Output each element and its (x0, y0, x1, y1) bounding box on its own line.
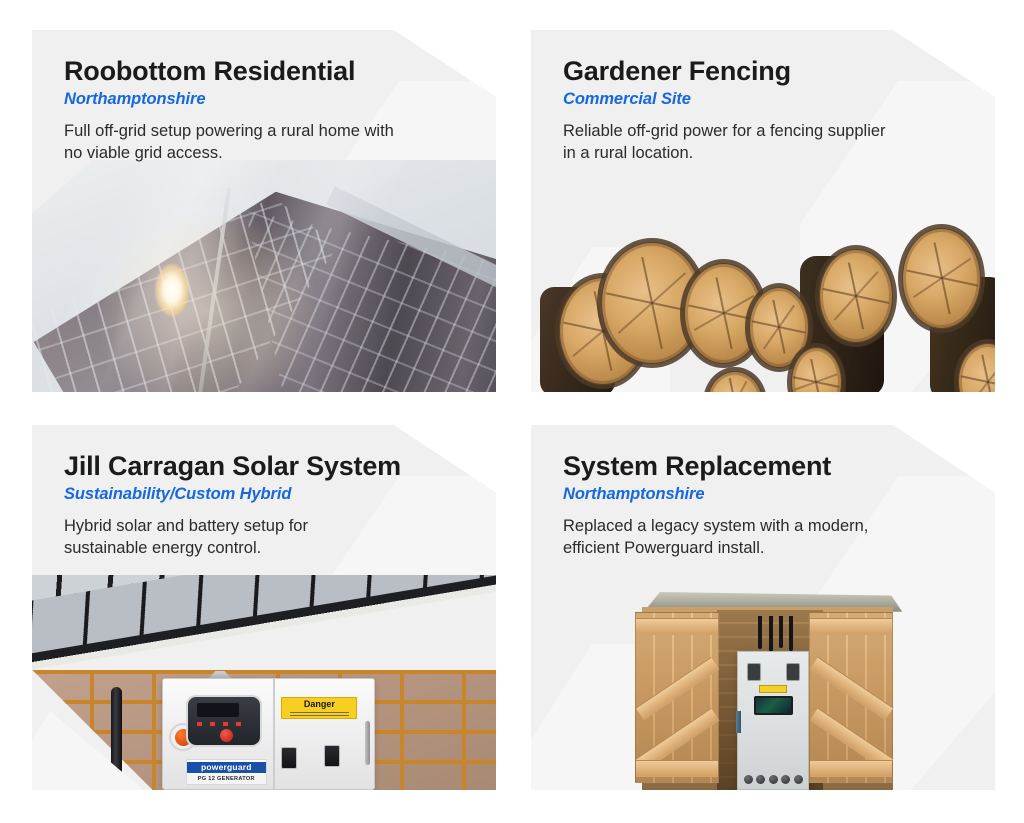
card-text-block: System Replacement Northamptonshire Repl… (531, 425, 995, 560)
card-description: Replaced a legacy system with a modern, … (563, 516, 893, 560)
case-study-card-jill-carragan-solar-system[interactable]: Jill Carragan Solar System Sustainabilit… (32, 425, 496, 790)
card-title: Gardener Fencing (563, 56, 965, 86)
card-title: System Replacement (563, 451, 965, 481)
card-text-block: Roobottom Residential Northamptonshire F… (32, 30, 496, 165)
photo-generator-enclosure: powerguard PG 12 GENERATOR Danger (162, 678, 375, 790)
card-text-block: Gardener Fencing Commercial Site Reliabl… (531, 30, 995, 165)
photo-sun-flare (155, 264, 189, 316)
photo-log-stack (531, 217, 995, 392)
card-description: Reliable off-grid power for a fencing su… (563, 121, 893, 165)
photo-status-leds (197, 722, 245, 726)
photo-powerguard-badge: powerguard PG 12 GENERATOR (186, 759, 266, 784)
photo-cabinet-controls (744, 775, 803, 784)
photo-enclosure-door-seam (273, 679, 275, 789)
card-subtitle: Northamptonshire (64, 90, 466, 109)
photo-downpipe (111, 687, 122, 773)
photo-shed-door-left (635, 612, 719, 784)
photo-enclosure-handle (365, 721, 370, 765)
photo-danger-label: Danger (304, 700, 335, 709)
solar-panel-roof-photo (32, 160, 496, 392)
shed-control-cabinet-photo (531, 570, 995, 790)
photo-model-label: PG 12 GENERATOR (198, 776, 255, 782)
photo-log (958, 343, 995, 392)
photo-cabinet-warning-label (759, 685, 787, 693)
card-subtitle: Sustainability/Custom Hybrid (64, 485, 466, 504)
photo-control-display (197, 703, 239, 717)
photo-control-cabinet (737, 651, 809, 790)
card-text-block: Jill Carragan Solar System Sustainabilit… (32, 425, 496, 560)
photo-vent-grille (324, 745, 340, 767)
card-description: Full off-grid setup powering a rural hom… (64, 121, 394, 165)
card-title: Roobottom Residential (64, 56, 466, 86)
card-description: Hybrid solar and battery setup for susta… (64, 516, 394, 560)
photo-shed (531, 570, 995, 790)
case-study-card-gardener-fencing[interactable]: Gardener Fencing Commercial Site Reliabl… (531, 30, 995, 392)
photo-log (791, 347, 842, 393)
case-study-card-grid: Roobottom Residential Northamptonshire F… (0, 0, 1024, 823)
photo-cabinet-vent (786, 663, 800, 681)
photo-cable-bundle (749, 616, 814, 653)
card-subtitle: Northamptonshire (563, 485, 965, 504)
photo-cabinet-vent (747, 663, 761, 681)
case-study-card-system-replacement[interactable]: System Replacement Northamptonshire Repl… (531, 425, 995, 790)
photo-log (902, 228, 981, 330)
generator-and-solar-roof-photo: powerguard PG 12 GENERATOR Danger (32, 575, 496, 790)
card-subtitle: Commercial Site (563, 90, 965, 109)
card-title: Jill Carragan Solar System (64, 451, 466, 481)
case-study-card-roobottom-residential[interactable]: Roobottom Residential Northamptonshire F… (32, 30, 496, 392)
photo-danger-fineprint (290, 711, 349, 716)
photo-cabinet-hinge (736, 711, 741, 733)
photo-brand-label: powerguard (187, 762, 265, 774)
photo-danger-sign: Danger (281, 697, 357, 719)
photo-vent-grille (281, 747, 297, 769)
photo-log (819, 249, 893, 344)
photo-control-panel (186, 695, 262, 748)
timber-logs-photo (531, 217, 995, 392)
photo-log (707, 371, 763, 392)
photo-cabinet-display (754, 696, 793, 715)
photo-stop-button (220, 729, 233, 742)
photo-shed-door-right (809, 612, 893, 784)
